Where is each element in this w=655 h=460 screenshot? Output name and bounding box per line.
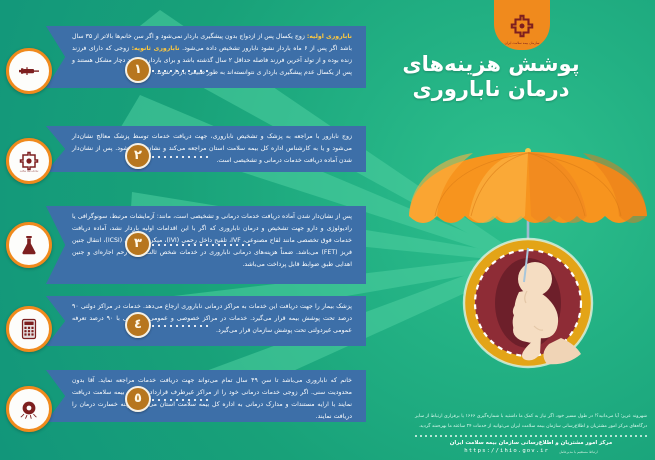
step-number-5: ٥ xyxy=(125,386,151,412)
lab-flask-icon xyxy=(16,232,42,258)
ihio-star-logo-icon xyxy=(509,13,535,39)
footer-url[interactable]: https://ihio.gov.ir xyxy=(464,448,549,454)
step-icon-2: سازمان بیمه سلامت xyxy=(6,138,52,184)
footer-divider xyxy=(415,435,647,437)
orange-umbrella-icon xyxy=(409,152,647,223)
logo-caption: سازمان بیمه سلامت ایران xyxy=(505,41,540,45)
page-title-line-2: درمان ناباروری xyxy=(341,77,641,102)
fertilization-icon xyxy=(16,396,42,422)
step-number-4: ٤ xyxy=(125,312,151,338)
syringe-icon xyxy=(16,58,42,84)
step-banner-3: پس از نشان‌دار شدن آماده دریافت خدمات در… xyxy=(46,206,366,284)
step-icon-4 xyxy=(6,306,52,352)
page-title-line-1: پوشش هزینه‌های xyxy=(341,52,641,77)
step-number-2: ۲ xyxy=(125,143,151,169)
step-number-3: ۳ xyxy=(125,231,151,257)
fetus-in-womb-icon xyxy=(464,239,592,367)
step-highlight-1a: ناباروری اولیه: xyxy=(307,33,352,40)
step-icon-1 xyxy=(6,48,52,94)
umbrella-fetus-illustration xyxy=(395,140,655,370)
step-banner-1: ناباروری اولیه: زوج یکسال پس از ازدواج ب… xyxy=(46,26,366,88)
step-text-5: خانم که ناباروری می‌باشد تا سن ۴۹ سال تم… xyxy=(72,375,352,423)
step-text-4: پزشک بیمار را جهت دریافت این خدمات به مر… xyxy=(72,301,352,337)
step-icon-3 xyxy=(6,222,52,268)
footer-url-caption: ارتباط مستقیم با مدیرعامل xyxy=(559,450,598,454)
step-number-1: ۱ xyxy=(125,57,151,83)
calculator-icon xyxy=(16,316,42,342)
step-highlight-1b: ناباروری ثانویه: xyxy=(132,45,180,52)
footer: شهروند عزیز؛ آیا می‌دانید؟! در طول مسیر … xyxy=(415,412,647,454)
step-banner-4: پزشک بیمار را جهت دریافت این خدمات به مر… xyxy=(46,296,366,346)
page-title: پوشش هزینه‌های درمان ناباروری xyxy=(341,52,641,102)
infographic-poster: سازمان بیمه سلامت xyxy=(0,0,655,460)
step-icon-5 xyxy=(6,386,52,432)
svg-text:سازمان بیمه سلامت: سازمان بیمه سلامت xyxy=(20,169,39,172)
footer-paragraph: شهروند عزیز؛ آیا می‌دانید؟! در طول مسیر … xyxy=(415,412,647,431)
step-banner-5: خانم که ناباروری می‌باشد تا سن ۴۹ سال تم… xyxy=(46,370,366,422)
ihio-flower-logo-icon: سازمان بیمه سلامت xyxy=(16,148,42,174)
illustration-svg xyxy=(395,140,655,370)
footer-url-row: ارتباط مستقیم با مدیرعامل https://ihio.g… xyxy=(415,448,647,454)
step-text-1: ناباروری اولیه: زوج یکسال پس از ازدواج ب… xyxy=(72,31,352,79)
footer-organization: مرکز امور مشتریان و اطلاع‌رسانی سازمان ب… xyxy=(415,440,647,446)
organization-logo-tab: سازمان بیمه سلامت ایران xyxy=(494,0,550,50)
step-text-2: زوج نابارور با مراجعه به پزشک و تشخیص نا… xyxy=(72,131,352,167)
step-text-3: پس از نشان‌دار شدن آماده دریافت خدمات در… xyxy=(72,211,352,271)
step-banner-2: زوج نابارور با مراجعه به پزشک و تشخیص نا… xyxy=(46,126,366,172)
